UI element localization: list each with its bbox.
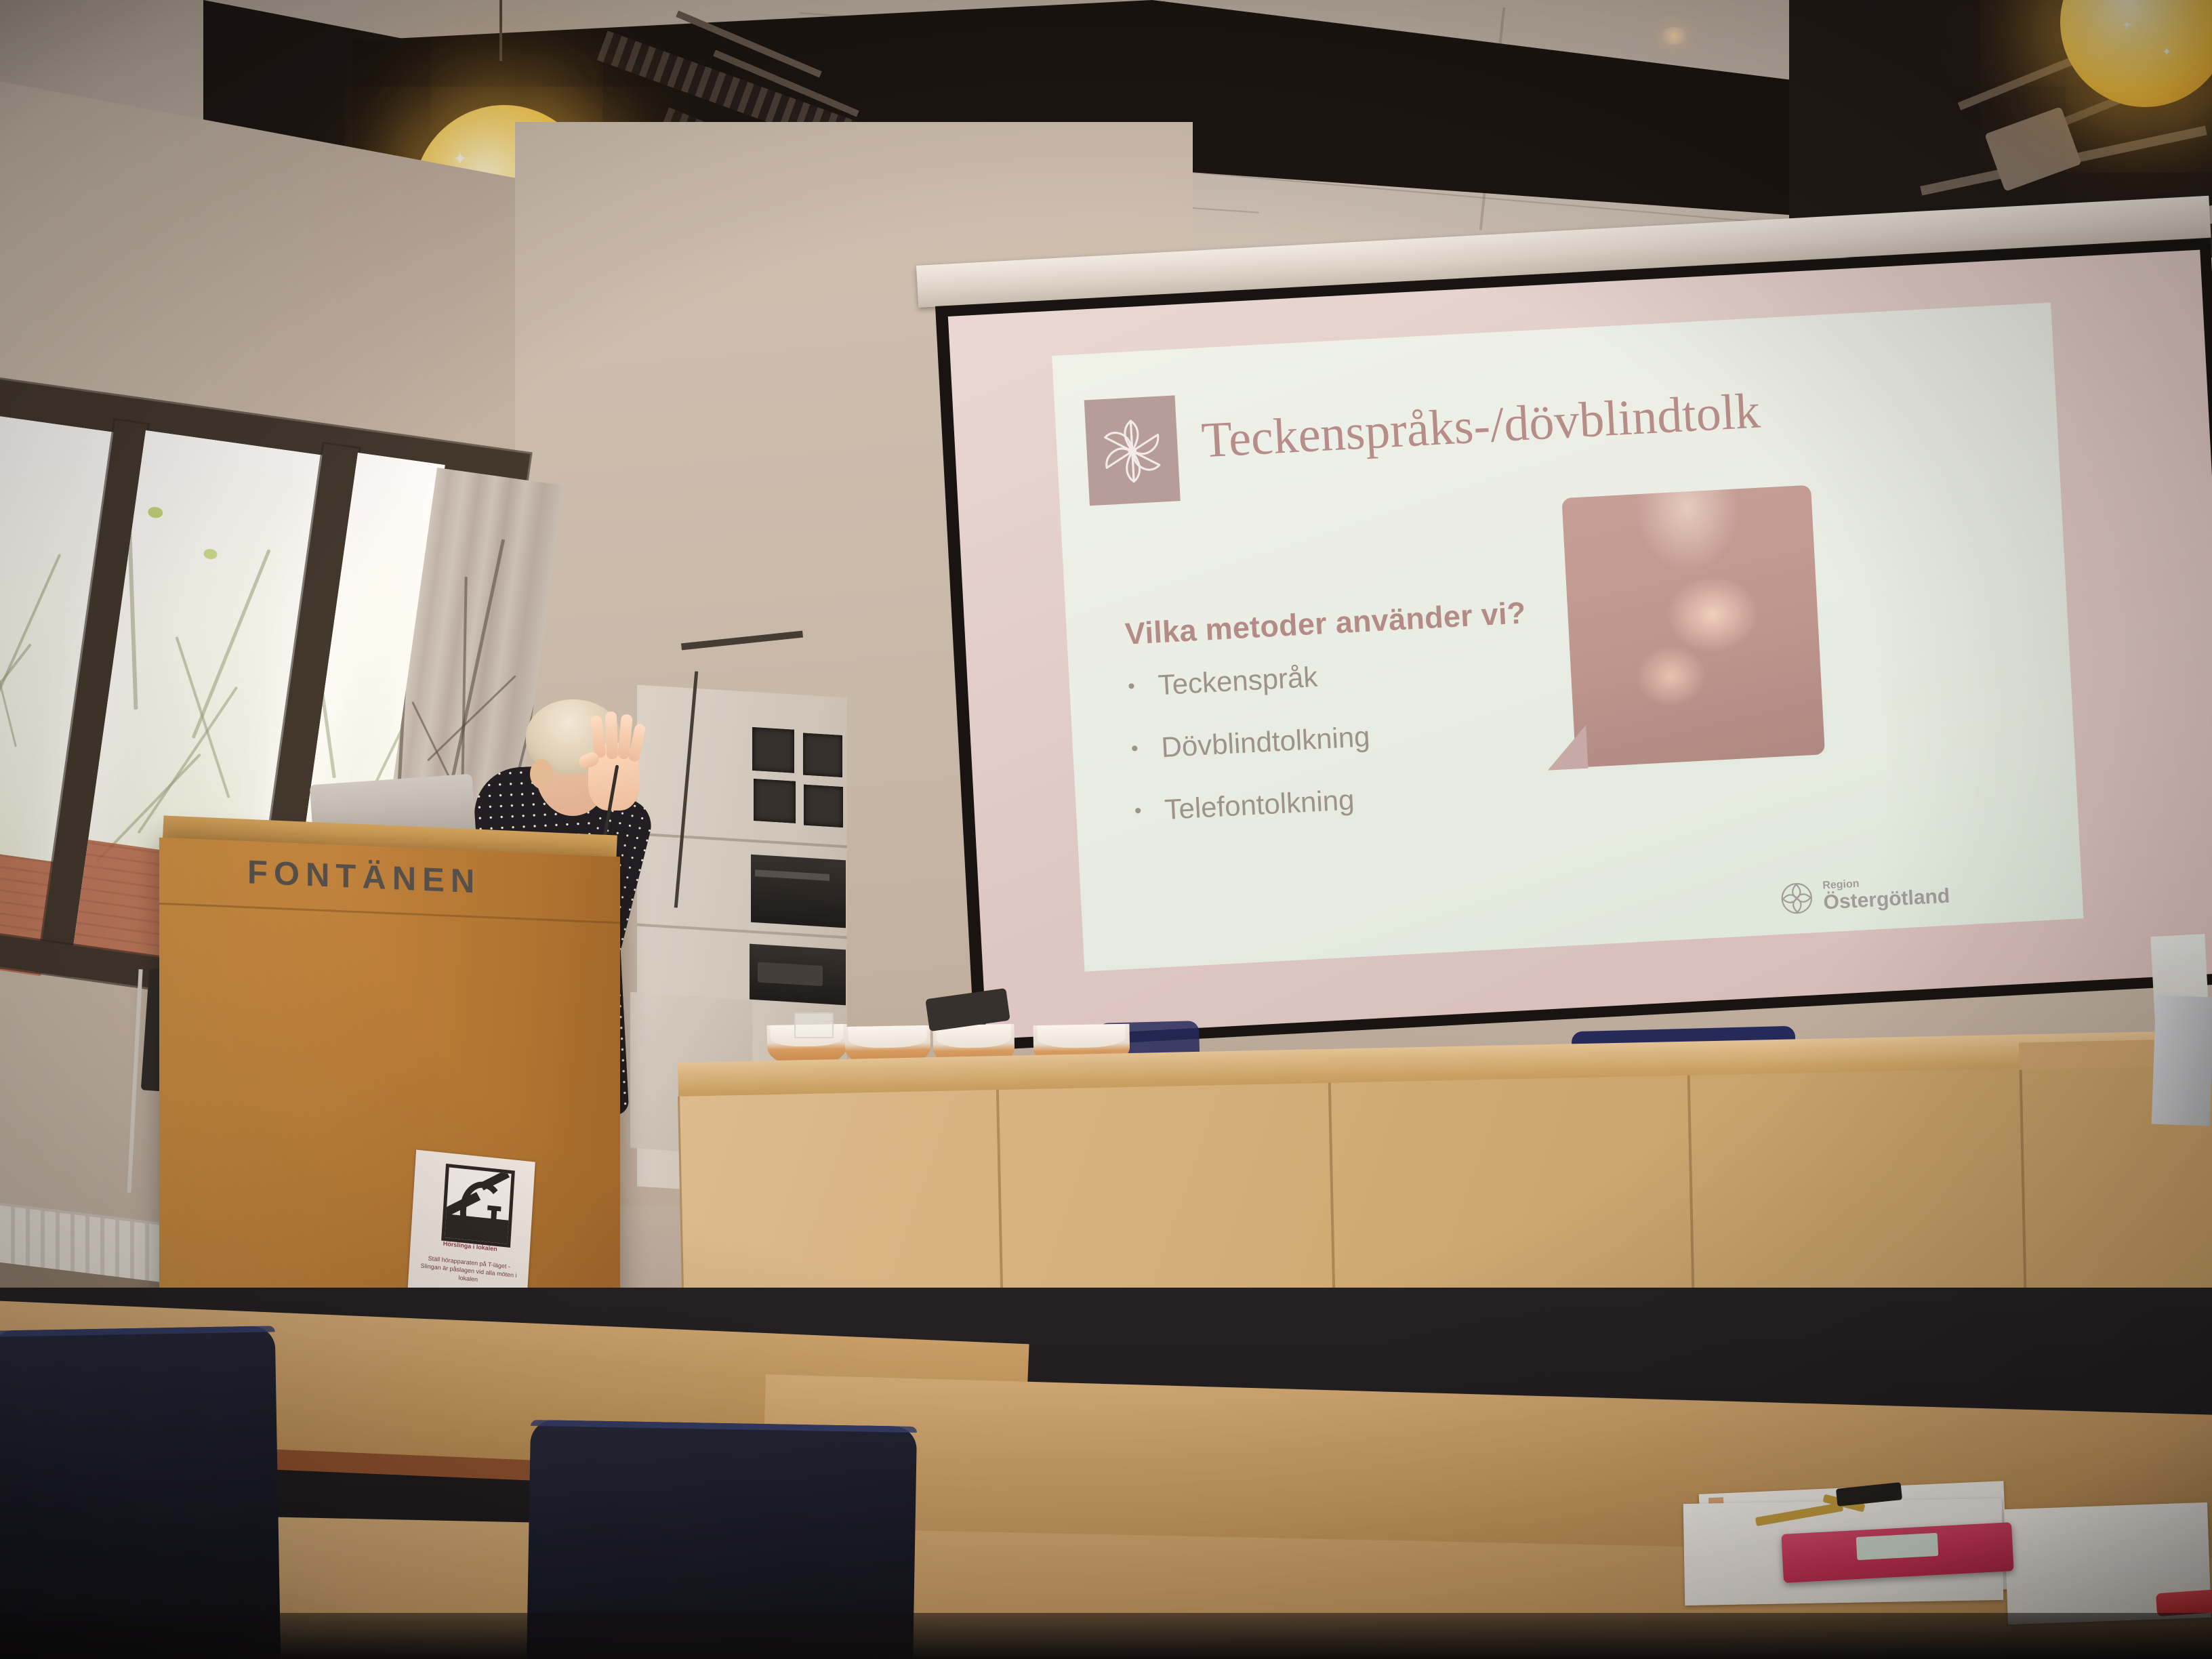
bullet-glyph: • — [1134, 796, 1143, 826]
slide-bullet-list: • Teckenspråk • Dövblindtolkning • Telef… — [1127, 650, 1555, 827]
flower-rosette-icon — [1090, 409, 1174, 493]
slide-heading: Vilka metoder använder vi? — [1124, 595, 1527, 651]
list-item: • Dövblindtolkning — [1130, 712, 1551, 764]
presenter-signing-hand — [576, 712, 652, 813]
presentation-slide: Teckenspråks-/dövblindtolk Vilka metoder… — [1052, 302, 2083, 971]
bullet-glyph: • — [1127, 672, 1136, 701]
hearing-loop-sign-body: Ställ hörapparaten på T-läget - Slingan … — [417, 1253, 521, 1288]
bullet-label: Teckenspråk — [1158, 662, 1319, 700]
ceiling-downlight — [1660, 27, 1687, 45]
pendant-lamp-cord — [499, 0, 502, 61]
bullet-glyph: • — [1130, 734, 1139, 764]
lectern: FONTÄNEN Hörslinga i lokalen Ställ hörap… — [159, 838, 620, 1332]
bullet-label: Telefontolkning — [1164, 785, 1355, 825]
sign-language-hands-photo — [1561, 485, 1825, 768]
bullet-label: Dövblindtolkning — [1160, 722, 1370, 762]
region-ostergotland-logo: Region Östergötland — [1778, 869, 1976, 920]
laptop — [2152, 996, 2212, 1126]
lectern-label: FONTÄNEN — [247, 853, 480, 901]
projection-screen: Teckenspråks-/dövblindtolk Vilka metoder… — [935, 239, 2212, 1051]
hearing-loop-ear-icon — [441, 1164, 515, 1248]
lecture-hall-photo: ✦ ✦ ✦ ✦ ✦ ✦ ✦ — [0, 0, 2212, 1659]
floor-shadow — [0, 1613, 2212, 1659]
list-item: • Teckenspråk — [1127, 650, 1548, 702]
region-emblem-icon — [1778, 879, 1816, 918]
list-item: • Telefontolkning — [1134, 774, 1555, 826]
slide-flower-logo — [1084, 395, 1181, 506]
slide-title: Teckenspråks-/dövblindtolk — [1200, 373, 2015, 466]
presenter-ear — [530, 759, 553, 789]
foreground-chair — [0, 1326, 281, 1659]
drinking-glass — [794, 1012, 834, 1038]
